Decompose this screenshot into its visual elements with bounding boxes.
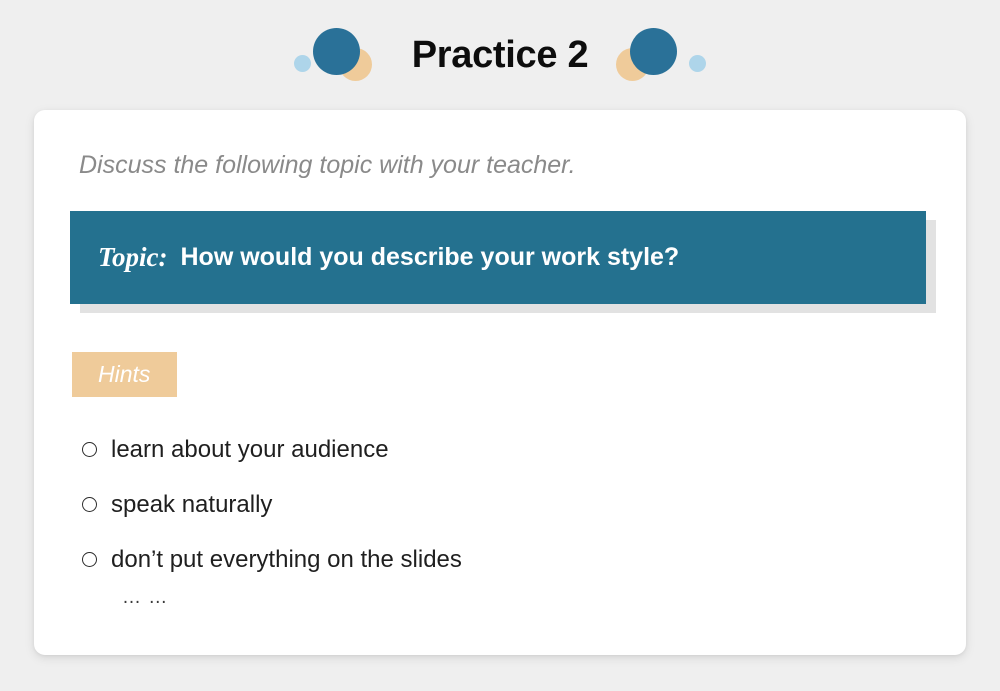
list-item-label: speak naturally: [111, 491, 272, 519]
page-title: Practice 2: [396, 36, 605, 74]
header-decoration-left: [294, 20, 396, 90]
list-item-label: don’t put everything on the slides: [111, 546, 462, 574]
hollow-circle-bullet-icon: [82, 552, 97, 567]
list-item: speak naturally: [82, 477, 922, 532]
topic-banner: Topic: How would you describe your work …: [70, 211, 930, 307]
hints-list: learn about your audience speak naturall…: [82, 422, 922, 609]
small-blue-circle-icon: [689, 55, 706, 72]
list-item: don’t put everything on the slides: [82, 532, 922, 587]
content-card: Discuss the following topic with your te…: [34, 110, 966, 655]
large-blue-circle-icon: [630, 28, 677, 75]
hints-continuation: … …: [122, 587, 922, 609]
hollow-circle-bullet-icon: [82, 497, 97, 512]
topic-banner-body: Topic: How would you describe your work …: [70, 211, 926, 304]
hints-tag-label: Hints: [98, 361, 150, 388]
hints-tag: Hints: [72, 352, 177, 397]
topic-label: Topic:: [98, 242, 168, 273]
page-header: Practice 2: [0, 0, 1000, 110]
list-item: learn about your audience: [82, 422, 922, 477]
topic-question: How would you describe your work style?: [181, 243, 680, 272]
hollow-circle-bullet-icon: [82, 442, 97, 457]
instruction-text: Discuss the following topic with your te…: [79, 151, 576, 180]
header-decoration-right: [604, 20, 706, 90]
small-blue-circle-icon: [294, 55, 311, 72]
list-item-label: learn about your audience: [111, 436, 389, 464]
large-blue-circle-icon: [313, 28, 360, 75]
